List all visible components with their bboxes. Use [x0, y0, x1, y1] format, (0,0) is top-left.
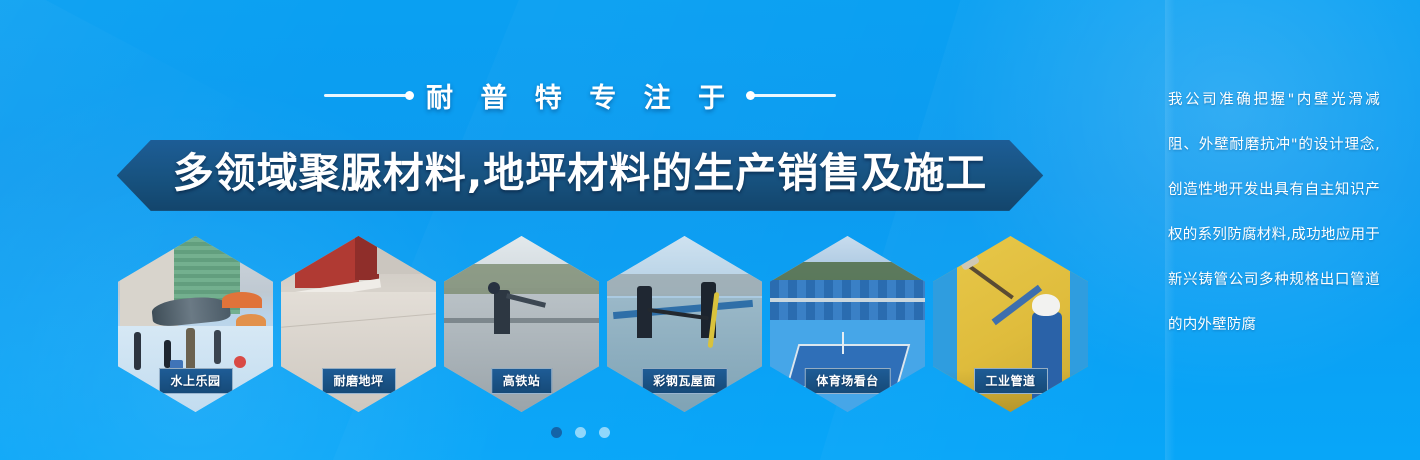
- headline-plaque: 多领域聚脲材料,地坪材料的生产销售及施工: [117, 140, 1044, 211]
- thumbnail-caption: 水上乐园: [158, 368, 232, 394]
- thumbnail-caption: 彩钢瓦屋面: [641, 368, 728, 394]
- thumbnail-stadium-grandstand[interactable]: 体育场看台: [770, 236, 925, 412]
- thumbnail-caption: 高铁站: [491, 368, 553, 394]
- thumbnail-wear-resistant-floor[interactable]: 耐磨地坪: [281, 236, 436, 412]
- thumbnail-strip: 水上乐园 耐磨地坪 高铁站 彩钢瓦屋面: [118, 236, 1088, 412]
- promo-banner: 耐 普 特 专 注 于 多领域聚脲材料,地坪材料的生产销售及施工 水上乐园 耐磨…: [0, 0, 1420, 460]
- thumbnail-industrial-pipeline[interactable]: 工业管道: [933, 236, 1088, 412]
- decorative-line-right-icon: [750, 94, 836, 97]
- kicker-text: 耐 普 特 专 注 于: [426, 76, 734, 115]
- headline-text: 多领域聚脲材料,地坪材料的生产销售及施工: [173, 151, 988, 197]
- thumbnail-color-steel-tile-roof[interactable]: 彩钢瓦屋面: [607, 236, 762, 412]
- thumbnail-caption: 工业管道: [973, 368, 1047, 394]
- thumbnail-water-park[interactable]: 水上乐园: [118, 236, 273, 412]
- thumbnail-caption: 耐磨地坪: [321, 368, 395, 394]
- carousel-pagination: [0, 427, 1160, 438]
- kicker-row: 耐 普 特 专 注 于: [0, 76, 1160, 115]
- pagination-dot-3[interactable]: [599, 427, 610, 438]
- thumbnail-caption: 体育场看台: [804, 368, 891, 394]
- thumbnail-high-speed-rail-station[interactable]: 高铁站: [444, 236, 599, 412]
- side-description: 我公司准确把握"内壁光滑减阻、外壁耐磨抗冲"的设计理念,创造性地开发出具有自主知…: [1168, 78, 1380, 348]
- side-description-text: 我公司准确把握"内壁光滑减阻、外壁耐磨抗冲"的设计理念,创造性地开发出具有自主知…: [1168, 78, 1380, 348]
- headline-plaque-wrapper: 多领域聚脲材料,地坪材料的生产销售及施工: [0, 140, 1160, 211]
- pagination-dot-1[interactable]: [551, 427, 562, 438]
- pagination-dot-2[interactable]: [575, 427, 586, 438]
- decorative-line-left-icon: [324, 94, 410, 97]
